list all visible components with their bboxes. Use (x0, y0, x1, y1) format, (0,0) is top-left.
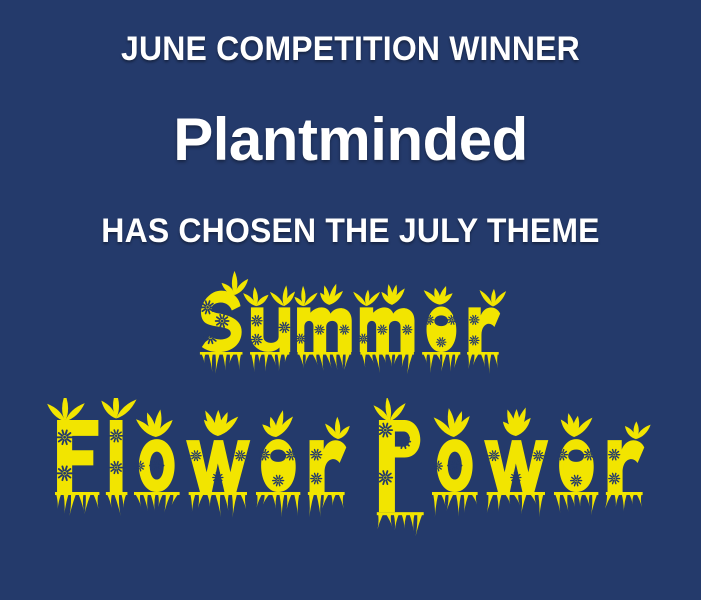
theme-line-two-flower-power (0, 398, 701, 538)
winner-name: Plantminded (0, 105, 701, 174)
poster-canvas: JUNE COMPETITION WINNER Plantminded HAS … (0, 0, 701, 600)
theme-label: HAS CHOSEN THE JULY THEME (21, 212, 680, 251)
winner-label: JUNE COMPETITION WINNER (21, 30, 680, 69)
theme-line-one-summer (0, 268, 701, 390)
decorative-word-summer (183, 268, 519, 390)
decorative-word-flower-power (38, 398, 664, 538)
